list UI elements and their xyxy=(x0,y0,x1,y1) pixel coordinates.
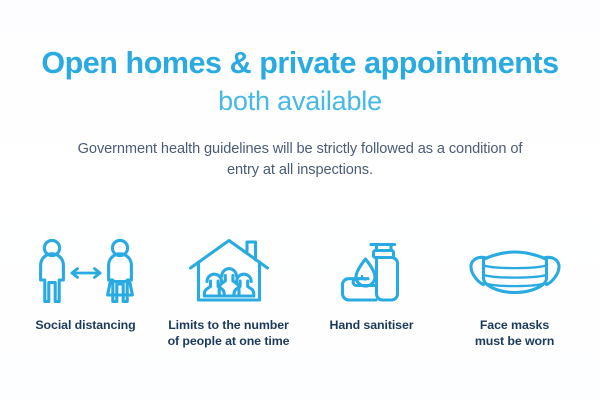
feature-label-face-masks: Face masks must be worn xyxy=(475,318,554,349)
hand-sanitiser-icon xyxy=(335,236,409,304)
feature-label-line-2: must be worn xyxy=(475,334,554,350)
feature-hand-sanitiser: Hand sanitiser xyxy=(300,236,443,334)
feature-label-social-distancing: Social distancing xyxy=(35,318,135,334)
feature-occupancy-limit: Limits to the number of people at one ti… xyxy=(157,236,300,349)
body-copy-line-2: entry at all inspections. xyxy=(30,160,570,181)
feature-label-line-1: Face masks xyxy=(475,318,554,334)
page-title: Open homes & private appointments xyxy=(0,47,600,79)
face-mask-icon xyxy=(467,236,563,304)
feature-label-line-2: of people at one time xyxy=(168,334,290,350)
body-copy: Government health guidelines will be str… xyxy=(30,139,570,181)
feature-face-masks: Face masks must be worn xyxy=(443,236,586,349)
feature-label-line-1: Hand sanitiser xyxy=(330,318,414,334)
page-subtitle: both available xyxy=(0,87,600,117)
body-copy-line-1: Government health guidelines will be str… xyxy=(30,139,570,160)
poster-canvas: Open homes & private appointments both a… xyxy=(0,0,600,400)
feature-icon-row: Social distancing xyxy=(0,236,600,349)
feature-label-hand-sanitiser: Hand sanitiser xyxy=(330,318,414,334)
feature-label-line-1: Limits to the number xyxy=(168,318,290,334)
social-distancing-icon xyxy=(32,236,140,304)
feature-label-line-1: Social distancing xyxy=(35,318,135,334)
feature-social-distancing: Social distancing xyxy=(14,236,157,334)
heading-block: Open homes & private appointments both a… xyxy=(0,0,600,117)
feature-label-occupancy-limit: Limits to the number of people at one ti… xyxy=(168,318,290,349)
house-occupancy-limit-icon xyxy=(187,236,271,304)
